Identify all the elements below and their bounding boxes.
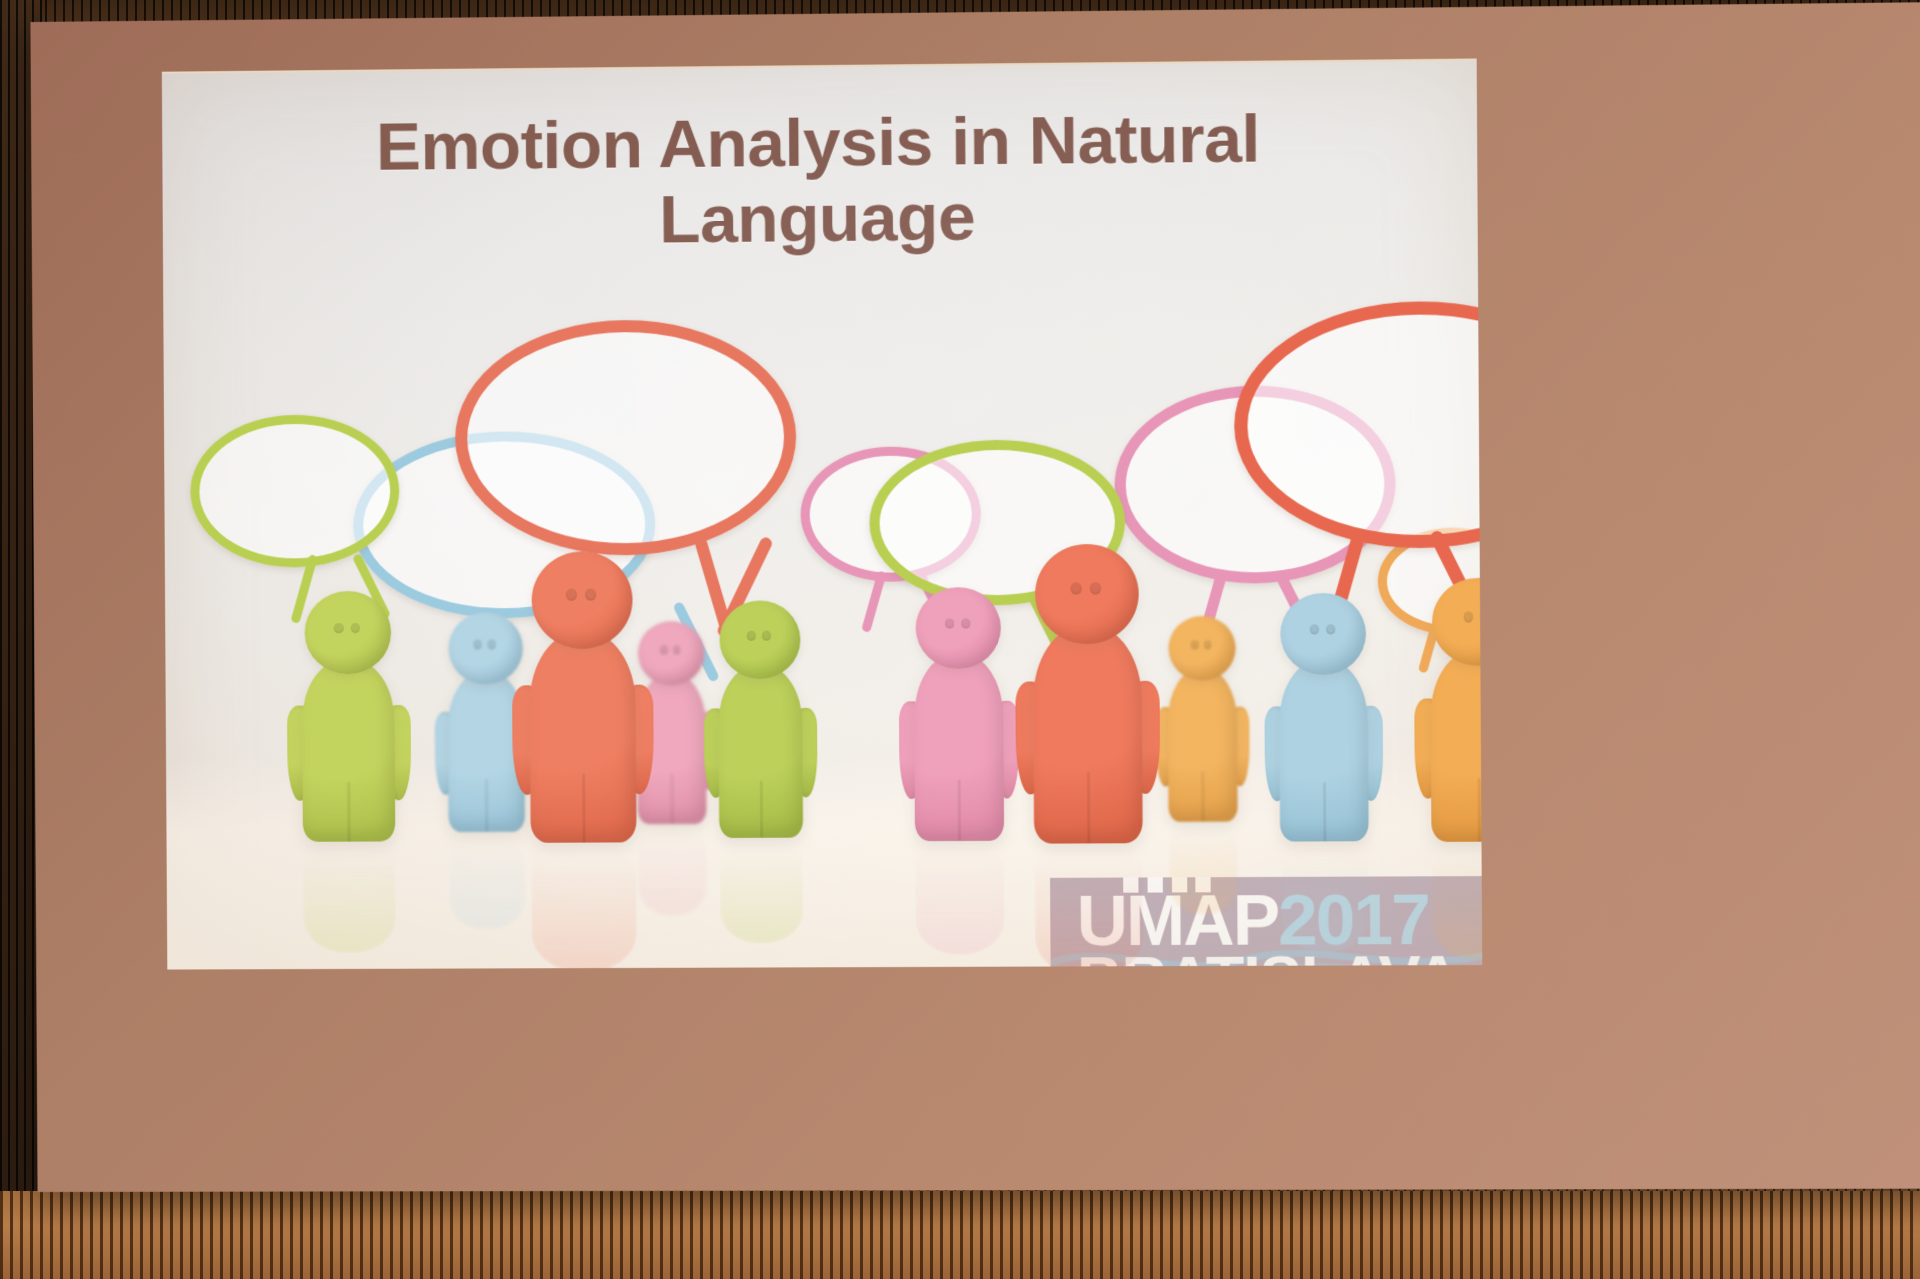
figure-green-1-eye-right [350, 623, 360, 634]
figure-pink-1-eye-right [673, 646, 680, 654]
figure-pink-2-eye-left [945, 618, 954, 629]
figure-pink-2-body [914, 653, 1004, 841]
bubble-coral-left [454, 319, 796, 557]
figure-green-2 [692, 600, 829, 852]
figure-orange-2-reflection [1432, 854, 1483, 960]
speech-bubbles-group [163, 263, 1478, 274]
figure-blue-2-reflection [1280, 852, 1369, 952]
figure-green-1 [273, 591, 423, 857]
bubble-coral-left-outline [454, 319, 796, 557]
figure-green-2-leg-split [759, 781, 762, 838]
figure-blue-2-leg-split [1322, 782, 1325, 842]
figure-coral-2-eye-left [1070, 582, 1081, 595]
presentation-slide: Emotion Analysis in Natural Language [162, 58, 1482, 969]
figure-coral-2-leg-split [1086, 772, 1089, 844]
figure-orange-1-head [1168, 616, 1236, 681]
figure-coral-1-body [529, 631, 636, 842]
figure-orange-1-reflection [1169, 830, 1239, 915]
figure-coral-2-body [1033, 625, 1143, 843]
figure-green-2-reflection [719, 848, 803, 944]
figure-orange-1-eye-right [1204, 640, 1211, 648]
figure-coral-1-leg-split [582, 773, 585, 842]
figure-coral-1-reflection [531, 855, 638, 969]
bubble-green-left-outline [190, 414, 400, 568]
figure-orange-2 [1400, 577, 1482, 858]
figure-orange-2-leg-split [1478, 778, 1481, 842]
figure-green-1-head [304, 591, 391, 675]
figure-blue-1-eye-right [488, 640, 496, 649]
figure-green-1-reflection [303, 852, 396, 953]
page-title: Emotion Analysis in Natural Language [162, 99, 1478, 262]
figure-pink-1-leg-split [670, 774, 673, 824]
figure-coral-1-head [531, 551, 632, 649]
bubble-coral-right-outline [1233, 300, 1482, 549]
figurines-group [163, 263, 1478, 274]
slide-title-line-1: Emotion Analysis in Natural [232, 100, 1406, 187]
figure-orange-1-body [1168, 668, 1238, 822]
projection-screen-frame: Emotion Analysis in Natural Language [30, 2, 1920, 1192]
figure-green-1-eye-left [334, 623, 344, 634]
figure-orange-2-eye-right [1481, 611, 1482, 622]
figure-blue-1-eye-left [474, 640, 482, 649]
bubble-coral-right [1233, 300, 1482, 549]
figure-coral-1 [496, 551, 669, 860]
figure-pink-2-reflection [915, 852, 1005, 955]
figure-pink-2-leg-split [958, 780, 961, 841]
figure-green-1-body [302, 659, 396, 842]
figure-green-2-eye-left [747, 630, 756, 640]
figure-coral-1-eye-left [566, 588, 577, 601]
figure-blue-2-eye-left [1309, 624, 1318, 635]
slide-illustration [163, 263, 1482, 970]
figure-green-1-leg-split [347, 781, 350, 841]
slide-title-line-2: Language [233, 175, 1407, 261]
wall-slats-bottom [0, 1191, 1920, 1279]
figure-green-2-head [719, 600, 800, 679]
figure-coral-2-eye-right [1090, 582, 1101, 595]
figure-green-2-body [718, 665, 803, 838]
figure-orange-2-body [1430, 649, 1482, 842]
figure-coral-2 [999, 544, 1176, 862]
figure-orange-2-eye-left [1463, 611, 1473, 622]
figure-blue-2-body [1279, 659, 1369, 841]
figure-orange-1-leg-split [1201, 771, 1204, 821]
figure-pink-2-head [915, 587, 1001, 669]
figure-orange-1-eye-left [1191, 641, 1198, 649]
figure-green-2-eye-right [762, 630, 771, 640]
figure-blue-1-leg-split [485, 779, 488, 832]
figure-blue-2-head [1280, 593, 1366, 675]
bubble-green-left [190, 414, 400, 568]
figure-blue-2 [1252, 593, 1396, 857]
figure-coral-1-eye-right [585, 588, 596, 601]
figure-orange-2-head [1432, 578, 1482, 666]
figure-coral-2-head [1035, 544, 1139, 644]
figure-pink-2-eye-right [961, 618, 970, 629]
figure-coral-2-reflection [1034, 857, 1143, 969]
figure-blue-2-eye-right [1326, 624, 1335, 635]
